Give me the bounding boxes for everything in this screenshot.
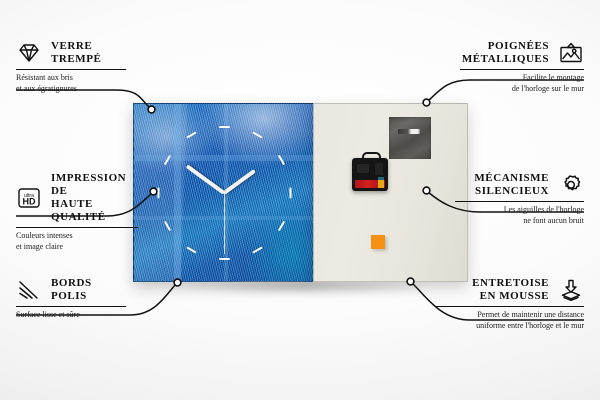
callout-head: ENTRETOISE EN MOUSSE (436, 277, 584, 303)
callout-desc-line1: Couleurs intenses (16, 231, 138, 242)
callout-title-line1: MÉCANISME (455, 172, 549, 185)
gear-icon (558, 173, 584, 197)
callout-verre-trempe: VERRE TREMPÉ Résistant aux bris et aux é… (16, 40, 126, 94)
callout-desc-line2: ne font aucun bruit (455, 216, 584, 227)
clock-hour-mark (219, 126, 230, 128)
hanging-loop-icon (362, 152, 381, 162)
foam-spacer-arrow-icon (558, 278, 584, 302)
callout-desc-line1: Résistant aux bris (16, 73, 126, 84)
callout-entretoise-en-mousse: ENTRETOISE EN MOUSSE Permet de maintenir… (436, 277, 584, 331)
product-image (133, 103, 466, 280)
callout-head: VERRE TREMPÉ (16, 40, 126, 66)
callout-rule (16, 227, 138, 228)
clock-hour-mark (219, 258, 230, 260)
callout-rule (436, 306, 584, 307)
metal-hanger-plate (389, 117, 431, 159)
clock-back-panel (313, 103, 468, 282)
callout-mecanisme-silencieux: MÉCANISME SILENCIEUX Les aiguilles de l'… (455, 172, 584, 226)
callout-title-line2: HAUTE QUALITÉ (51, 198, 138, 224)
hanger-slot (398, 129, 420, 134)
callout-title: ENTRETOISE EN MOUSSE (436, 277, 549, 303)
callout-poignees-metalliques: POIGNÉES MÉTALLIQUES Facilite le montage… (460, 40, 584, 94)
callout-title-line1: VERRE (51, 40, 101, 53)
callout-title: IMPRESSION DE HAUTE QUALITÉ (51, 172, 138, 224)
clock-hour-mark (290, 187, 292, 198)
mechanism-detail (375, 163, 383, 175)
callout-title-line1: IMPRESSION DE (51, 172, 138, 198)
print-pattern-stripe (134, 155, 314, 161)
diamond-icon (16, 41, 42, 65)
callout-title-line1: ENTRETOISE (436, 277, 549, 290)
clock-mechanism (352, 158, 388, 191)
callout-title-line2: SILENCIEUX (455, 185, 549, 198)
callout-rule (16, 306, 126, 307)
callout-bords-polis: BORDS POLIS Surface lisse et sûre (16, 277, 126, 321)
callout-rule (16, 69, 126, 70)
picture-frame-hook-icon (558, 41, 584, 65)
callout-title: VERRE TREMPÉ (51, 40, 101, 66)
callout-rule (460, 69, 584, 70)
callout-head: POIGNÉES MÉTALLIQUES (460, 40, 584, 66)
callout-desc-line1: Surface lisse et sûre (16, 310, 126, 321)
callout-desc-line2: de l'horloge sur le mur (460, 84, 584, 95)
clock-hour-mark (158, 187, 160, 198)
callout-title-line2: MÉTALLIQUES (460, 53, 549, 66)
battery (355, 180, 385, 188)
orange-foam-spacer (371, 235, 385, 249)
mechanism-detail (357, 164, 369, 173)
callout-desc-line2: uniforme entre l'horloge et le mur (436, 321, 584, 332)
print-pattern-stripe (174, 104, 181, 281)
callout-title: BORDS POLIS (51, 277, 92, 303)
callout-title: POIGNÉES MÉTALLIQUES (460, 40, 549, 66)
callout-desc-line1: Facilite le montage (460, 73, 584, 84)
clock-second-hand (224, 192, 225, 254)
callout-title-line2: EN MOUSSE (436, 290, 549, 303)
callout-head: BORDS POLIS (16, 277, 126, 303)
callout-impression-haute-qualite: ultra HD IMPRESSION DE HAUTE QUALITÉ Cou… (16, 172, 138, 252)
callout-desc-line2: et aux égratignures (16, 84, 126, 95)
callout-desc-line1: Permet de maintenir une distance (436, 310, 584, 321)
clock-front-panel (133, 103, 315, 282)
clock-center-pin (223, 191, 226, 194)
callout-desc-line1: Les aiguilles de l'horloge (455, 205, 584, 216)
callout-desc-line2: et image claire (16, 242, 138, 253)
callout-title-line1: POIGNÉES (460, 40, 549, 53)
callout-head: MÉCANISME SILENCIEUX (455, 172, 584, 198)
infographic-canvas: VERRE TREMPÉ Résistant aux bris et aux é… (0, 0, 600, 400)
ultra-hd-icon-text-bottom: HD (23, 197, 36, 207)
callout-title-line1: BORDS (51, 277, 92, 290)
callout-title-line2: TREMPÉ (51, 53, 101, 66)
callout-rule (455, 201, 584, 202)
polished-edges-icon (16, 278, 42, 302)
callout-head: ultra HD IMPRESSION DE HAUTE QUALITÉ (16, 172, 138, 224)
callout-title-line2: POLIS (51, 290, 92, 303)
callout-title: MÉCANISME SILENCIEUX (455, 172, 549, 198)
ultra-hd-icon: ultra HD (16, 186, 42, 210)
battery-terminal (378, 180, 384, 188)
